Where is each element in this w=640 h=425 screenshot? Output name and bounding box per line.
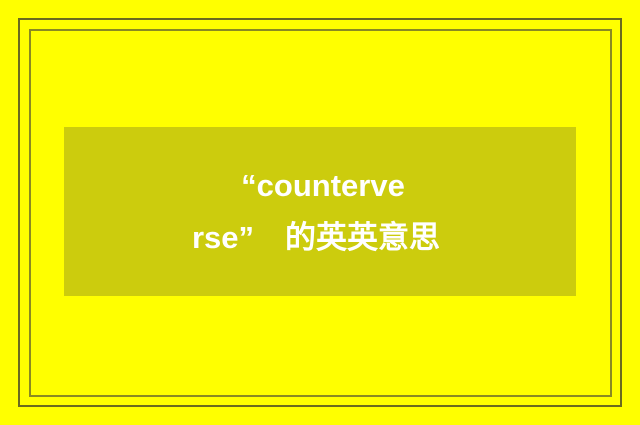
poster-canvas: “counterve rse” 的英英意思	[0, 0, 640, 425]
title-line-1: “counterve	[235, 160, 405, 212]
title-line-2: rse” 的英英意思	[192, 212, 448, 264]
title-panel: “counterve rse” 的英英意思	[64, 127, 576, 296]
